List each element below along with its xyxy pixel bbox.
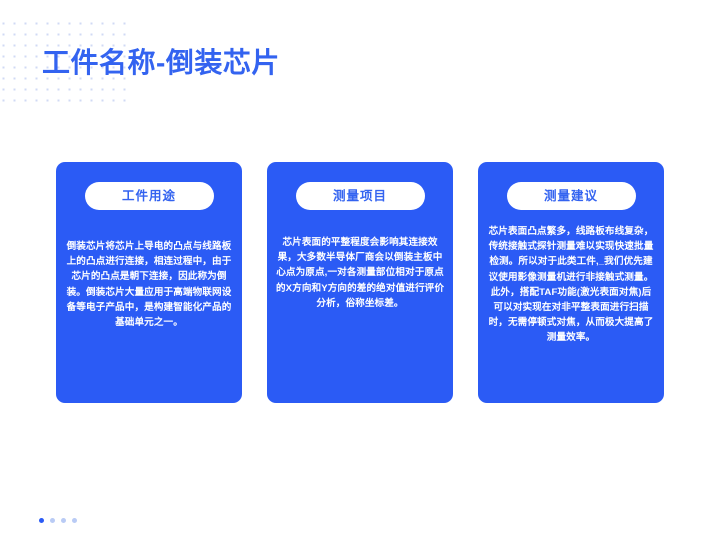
info-card-row: 工件用途 倒装芯片将芯片上导电的凸点与线路板上的凸点进行连接，相连过程中，由于芯… xyxy=(56,162,664,403)
card-badge-label: 测量建议 xyxy=(544,190,598,203)
pagination-dot-4[interactable] xyxy=(72,518,77,523)
info-card-measurement-advice: 测量建议 芯片表面凸点繁多，线路板布线复杂，传统接触式探针测量难以实现快速批量检… xyxy=(478,162,664,403)
card-badge-label: 测量项目 xyxy=(333,190,387,203)
pagination-dot-1[interactable] xyxy=(39,518,44,523)
pagination-dots[interactable] xyxy=(39,518,77,523)
card-badge-workpiece-usage: 工件用途 xyxy=(85,182,214,210)
card-badge-label: 工件用途 xyxy=(122,190,176,203)
card-body-text: 倒装芯片将芯片上导电的凸点与线路板上的凸点进行连接，相连过程中，由于芯片的凸点是… xyxy=(64,239,234,330)
card-body-text: 芯片表面的平整程度会影响其连接效果，大多数半导体厂商会以倒装主板中心点为原点,一… xyxy=(275,235,445,311)
card-badge-measurement-advice: 测量建议 xyxy=(507,182,636,210)
page-title: 工件名称-倒装芯片 xyxy=(42,44,280,82)
pagination-dot-2[interactable] xyxy=(50,518,55,523)
info-card-measurement-item: 测量项目 芯片表面的平整程度会影响其连接效果，大多数半导体厂商会以倒装主板中心点… xyxy=(267,162,453,403)
card-body-text: 芯片表面凸点繁多，线路板布线复杂，传统接触式探针测量难以实现快速批量检测。所以对… xyxy=(486,224,656,346)
card-badge-measurement-item: 测量项目 xyxy=(296,182,425,210)
info-card-workpiece-usage: 工件用途 倒装芯片将芯片上导电的凸点与线路板上的凸点进行连接，相连过程中，由于芯… xyxy=(56,162,242,403)
pagination-dot-3[interactable] xyxy=(61,518,66,523)
